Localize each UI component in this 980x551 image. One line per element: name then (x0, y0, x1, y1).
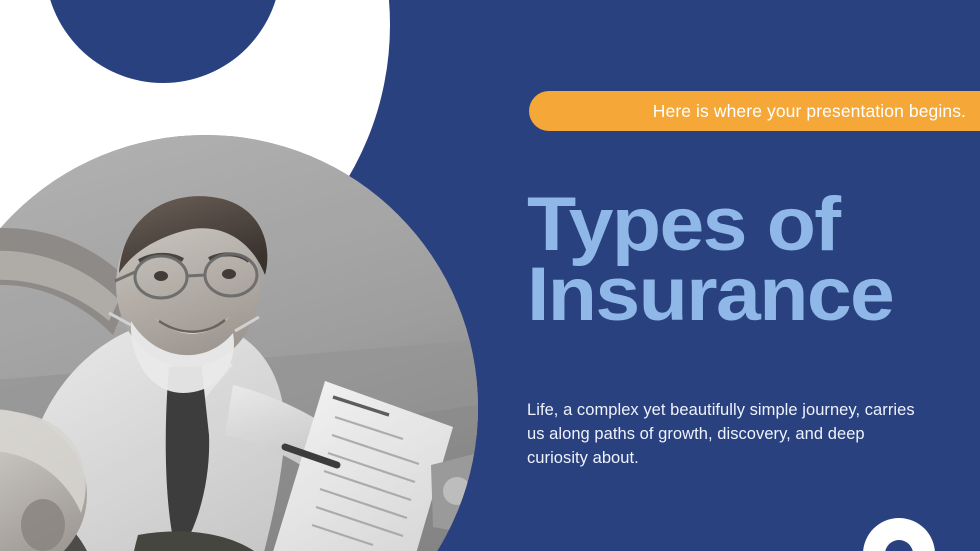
page-title: Types of Insurance (527, 190, 980, 330)
slide-body-text: Life, a complex yet beautifully simple j… (527, 399, 927, 471)
presentation-slide: Here is where your presentation begins. … (0, 0, 980, 551)
slide-content: Here is where your presentation begins. … (527, 0, 980, 551)
kicker-banner: Here is where your presentation begins. (529, 91, 980, 131)
kicker-text: Here is where your presentation begins. (653, 101, 966, 122)
photo-image (0, 135, 478, 551)
photo-circle (0, 135, 478, 551)
